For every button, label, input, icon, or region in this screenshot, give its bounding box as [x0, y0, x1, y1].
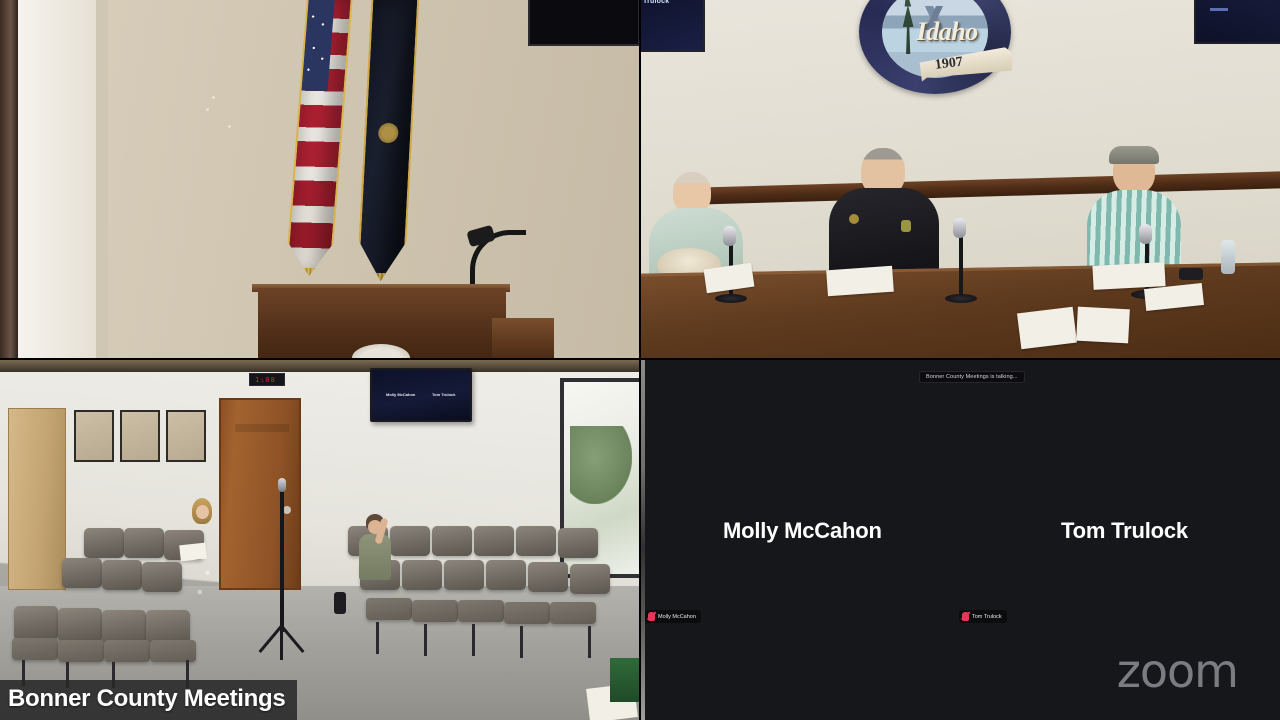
- gallery-chair: [124, 528, 164, 558]
- idaho-flag-seal: [378, 123, 399, 143]
- wall-mounted-tv: [528, 0, 640, 46]
- gallery-chair: [516, 526, 556, 556]
- paper-sheet: [826, 266, 894, 297]
- framed-artwork: [74, 410, 114, 462]
- gallery-chair: [570, 564, 610, 594]
- entry-door[interactable]: [219, 398, 301, 590]
- gallery-chair: [102, 610, 146, 644]
- water-bottle: [1221, 240, 1235, 274]
- gallery-chair: [558, 528, 598, 558]
- zoom-name-badge-molly-mccahon: Molly McCahon: [645, 610, 701, 623]
- mic-muted-icon: [648, 612, 655, 621]
- chair-leg: [520, 626, 523, 658]
- quadrant-gallery-camera[interactable]: 1:08 Molly McCahon Tom Trulock: [0, 360, 640, 720]
- paper-sheet: [1092, 262, 1165, 290]
- handheld-paper: [179, 543, 207, 562]
- gallery-chair: [14, 606, 58, 640]
- gallery-chair: [432, 526, 472, 556]
- video-stream-stage: Trulock Idaho 1907: [0, 0, 1280, 720]
- gallery-wall-tv: Molly McCahon Tom Trulock: [370, 368, 472, 422]
- mic-base: [945, 294, 977, 303]
- gallery-chair-seat: [58, 640, 104, 662]
- zoom-name-badge-tom-trulock: Tom Trulock: [959, 610, 1007, 623]
- active-speaker-indicator: Bonner County Meetings is talking...: [919, 371, 1025, 383]
- badge-label: Tom Trulock: [972, 614, 1002, 620]
- paper-sheet: [1017, 307, 1077, 350]
- window-foliage: [570, 426, 632, 504]
- foreground-person: [610, 658, 640, 702]
- tv-participant-name-2: Tom Trulock: [432, 392, 455, 397]
- wall-speck: [228, 125, 231, 128]
- wall-speck: [212, 96, 215, 99]
- phone-device: [1179, 268, 1203, 280]
- gallery-chair-seat: [412, 600, 458, 622]
- white-wall-column: [18, 0, 96, 359]
- podium-side-shelf: [492, 318, 554, 359]
- wall-tv-right: [1194, 0, 1280, 44]
- tv-participant-name-1: Molly McCahon: [386, 392, 415, 397]
- framed-artwork: [120, 410, 160, 462]
- chair-leg: [472, 624, 475, 656]
- quadrant-divider-vertical: [639, 0, 641, 720]
- gallery-chair: [58, 608, 102, 642]
- gallery-chair-seat: [504, 602, 550, 624]
- seal-script-text: Idaho: [899, 17, 996, 47]
- gallery-chair: [62, 558, 102, 588]
- gallery-chair: [444, 560, 484, 590]
- us-flag-canton: [302, 0, 335, 91]
- gallery-chair-seat: [458, 600, 504, 622]
- zoom-watermark-logo: zoom: [1117, 648, 1238, 694]
- door-panel: [235, 424, 289, 432]
- gallery-chair: [528, 562, 568, 592]
- deputy-star-icon: [901, 220, 911, 232]
- gallery-chair: [142, 562, 182, 592]
- wall-speck: [206, 108, 209, 111]
- gallery-chair-seat: [150, 640, 196, 662]
- microphone-icon: [1139, 224, 1152, 244]
- paper-sheet: [1076, 307, 1130, 344]
- gallery-chair-seat: [550, 602, 596, 624]
- wall-tv-left: Trulock: [641, 0, 705, 52]
- gallery-chair: [390, 526, 430, 556]
- door-jamb: [0, 0, 18, 359]
- channel-caption-overlay: Bonner County Meetings: [0, 680, 297, 720]
- digital-wall-clock: 1:08: [249, 373, 285, 386]
- chair-leg: [376, 622, 379, 654]
- door-knob-icon[interactable]: [283, 506, 291, 514]
- microphone-icon: [953, 218, 966, 238]
- gallery-attendee-woman: [186, 498, 218, 618]
- zoom-participant-name-tom-trulock: Tom Trulock: [1061, 518, 1188, 544]
- tv-highlight-bar: [1210, 8, 1228, 11]
- adjacent-video-sliver: [641, 360, 645, 720]
- gallery-chair-seat: [12, 638, 58, 660]
- bonner-county-seal-icon: Idaho 1907: [859, 0, 1011, 94]
- quadrant-divider-horizontal: [0, 358, 1280, 360]
- clock-digits: 1:08: [255, 376, 276, 384]
- gallery-chair: [146, 610, 190, 644]
- quadrant-podium-camera[interactable]: [0, 0, 640, 359]
- quadrant-zoom-pane[interactable]: Bonner County Meetings is talking... Mol…: [641, 360, 1280, 720]
- badge-label: Molly McCahon: [658, 614, 696, 620]
- chair-leg: [424, 624, 427, 656]
- wall-tv-left-label: Trulock: [643, 0, 669, 5]
- chair-leg: [588, 626, 591, 658]
- deputy-badge-icon: [849, 214, 859, 224]
- gallery-chair: [474, 526, 514, 556]
- mic-muted-icon: [962, 612, 969, 621]
- microphone-icon: [723, 226, 736, 246]
- tripod-leg: [280, 626, 283, 660]
- gallery-chair-seat: [104, 640, 150, 662]
- mic-tripod-base: [256, 626, 308, 660]
- person-dress: [188, 520, 216, 616]
- person-face: [196, 505, 209, 519]
- gallery-chair: [402, 560, 442, 590]
- zoom-participant-name-molly-mccahon: Molly McCahon: [723, 518, 882, 544]
- gallery-chair: [102, 560, 142, 590]
- floor-microphone-stand: [280, 488, 284, 632]
- wall-cabinet: [8, 408, 66, 590]
- mic-base: [715, 294, 747, 303]
- gallery-chair: [84, 528, 124, 558]
- baseball-cap: [1109, 146, 1159, 164]
- quadrant-dais-camera[interactable]: Trulock Idaho 1907: [641, 0, 1280, 359]
- gallery-attendee-man: [358, 514, 392, 614]
- framed-artwork: [166, 410, 206, 462]
- gallery-chair: [486, 560, 526, 590]
- tripod-leg: [280, 625, 304, 653]
- board-member-right: [1087, 148, 1183, 278]
- ceiling-beam: [0, 360, 640, 372]
- water-bottle: [334, 592, 346, 614]
